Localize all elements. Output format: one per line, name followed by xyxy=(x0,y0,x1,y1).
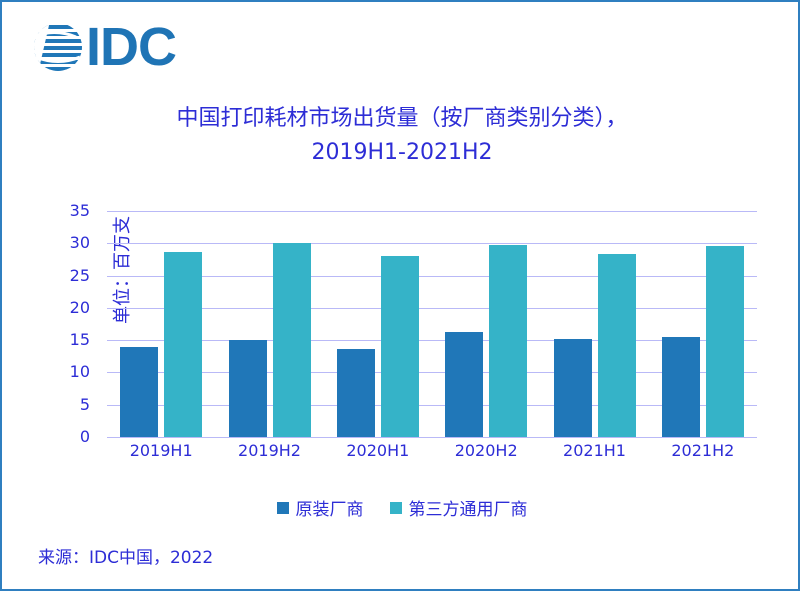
legend-label-0: 原装厂商 xyxy=(296,495,364,520)
y-tick-label: 5 xyxy=(50,397,90,413)
bar-2019H2-原装厂商 xyxy=(229,340,267,437)
y-tick-mark xyxy=(0,276,2,277)
legend-swatch-1 xyxy=(390,502,402,514)
y-tick-mark xyxy=(0,211,2,212)
bar-2021H2-第三方通用厂商 xyxy=(706,246,744,437)
idc-logo-text: IDC xyxy=(86,21,176,73)
y-tick-label: 15 xyxy=(50,332,90,348)
y-tick-label: 35 xyxy=(50,203,90,219)
gridline xyxy=(107,308,757,309)
gridline xyxy=(107,405,757,406)
globe-icon xyxy=(32,21,84,73)
y-tick-label: 10 xyxy=(50,364,90,380)
bar-2019H2-第三方通用厂商 xyxy=(273,243,311,437)
gridline xyxy=(107,211,757,212)
legend-item-0[interactable]: 原装厂商 xyxy=(277,495,364,520)
gridline xyxy=(107,437,757,438)
chart-legend: 原装厂商 第三方通用厂商 xyxy=(2,495,800,520)
legend-swatch-0 xyxy=(277,502,289,514)
y-tick-mark xyxy=(0,437,2,438)
legend-item-1[interactable]: 第三方通用厂商 xyxy=(390,495,528,520)
gridline xyxy=(107,340,757,341)
bar-2021H1-第三方通用厂商 xyxy=(598,254,636,437)
y-tick-mark xyxy=(0,340,2,341)
x-tick-label: 2020H2 xyxy=(426,441,546,460)
x-tick-label: 2019H1 xyxy=(101,441,221,460)
legend-label-1: 第三方通用厂商 xyxy=(409,495,528,520)
source-note: 来源：IDC中国，2022 xyxy=(38,543,213,568)
bar-2020H1-原装厂商 xyxy=(337,349,375,437)
x-tick-label: 2020H1 xyxy=(318,441,438,460)
bar-2019H1-第三方通用厂商 xyxy=(164,252,202,437)
x-tick-label: 2021H1 xyxy=(535,441,655,460)
gridline xyxy=(107,372,757,373)
x-tick-label: 2021H2 xyxy=(643,441,763,460)
x-tick-label: 2019H2 xyxy=(210,441,330,460)
y-tick-label: 30 xyxy=(50,235,90,251)
bar-2020H2-第三方通用厂商 xyxy=(489,245,527,437)
idc-logo: IDC xyxy=(32,18,176,76)
bar-2019H1-原装厂商 xyxy=(120,347,158,437)
chart-title-line-2: 2019H1-2021H2 xyxy=(62,136,742,170)
y-tick-mark xyxy=(0,372,2,373)
bar-2021H1-原装厂商 xyxy=(554,339,592,437)
y-tick-label: 20 xyxy=(50,300,90,316)
y-tick-mark xyxy=(0,308,2,309)
y-tick-label: 25 xyxy=(50,268,90,284)
bar-2020H2-原装厂商 xyxy=(445,332,483,437)
bar-2020H1-第三方通用厂商 xyxy=(381,256,419,437)
chart-title-line-1: 中国打印耗材市场出货量（按厂商类别分类）， xyxy=(62,102,742,136)
chart-title: 中国打印耗材市场出货量（按厂商类别分类）， 2019H1-2021H2 xyxy=(62,102,742,170)
y-tick-label: 0 xyxy=(50,429,90,445)
gridline xyxy=(107,276,757,277)
chart-page: IDC 中国打印耗材市场出货量（按厂商类别分类）， 2019H1-2021H2 … xyxy=(0,0,800,591)
bar-chart: 051015202530352019H12019H22020H12020H220… xyxy=(2,197,800,497)
y-tick-mark xyxy=(0,243,2,244)
y-tick-mark xyxy=(0,405,2,406)
plot-area xyxy=(107,211,757,437)
bar-2021H2-原装厂商 xyxy=(662,337,700,437)
gridline xyxy=(107,243,757,244)
